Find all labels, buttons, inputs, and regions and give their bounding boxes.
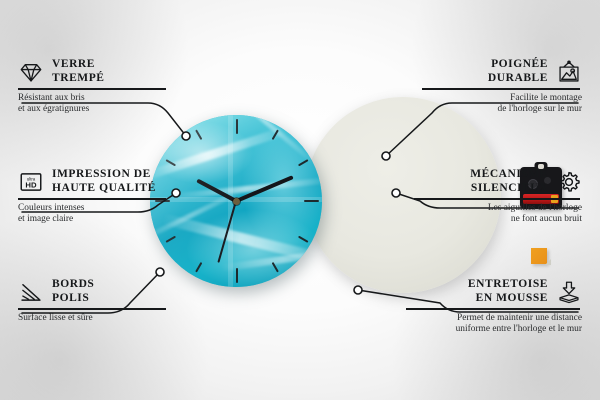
hanging-frame-icon [556,59,582,85]
callout-verre-trempe: VERRE TREMPÉ Résistant aux bris et aux é… [18,58,168,116]
callout-rule [18,198,166,200]
callout-title: IMPRESSION DE HAUTE QUALITÉ [52,168,156,195]
product-infographic: VERRE TREMPÉ Résistant aux bris et aux é… [0,0,600,400]
callout-title: MÉCANISME SILENCIEUX [470,168,548,195]
ultra-hd-icon: ultra HD [18,169,44,195]
callout-title: BORDS POLIS [52,278,94,305]
callout-subtitle: Résistant aux bris et aux égratignures [18,93,168,116]
callout-header: POIGNÉE DURABLE [422,58,582,85]
callout-title: ENTRETOISE EN MOUSSE [468,278,548,305]
callout-title: VERRE TREMPÉ [52,58,105,85]
callout-header: BORDS POLIS [18,278,168,305]
callout-header: VERRE TREMPÉ [18,58,168,85]
callout-bords-polis: BORDS POLIS Surface lisse et sûre [18,278,168,324]
callout-subtitle: Facilite le montage de l'horloge sur le … [422,93,582,116]
diamond-icon [18,59,44,85]
svg-text:HD: HD [25,180,37,189]
callout-entretoise-en-mousse: ENTRETOISE EN MOUSSE Permet de maintenir… [406,278,582,336]
callout-subtitle: Permet de maintenir une distance uniform… [406,313,582,336]
callout-rule [414,198,580,200]
glass-gloss-overlay [150,115,322,287]
callout-title: POIGNÉE DURABLE [488,58,548,85]
gear-icon [556,169,582,195]
callout-mecanisme-silencieux: MÉCANISME SILENCIEUX Les aiguilles de l'… [414,168,582,226]
callout-subtitle: Surface lisse et sûre [18,313,168,325]
callout-header: ultra HD IMPRESSION DE HAUTE QUALITÉ [18,168,168,195]
callout-rule [18,308,166,310]
callout-rule [406,308,580,310]
callout-subtitle: Les aiguilles de l'horloge ne font aucun… [414,203,582,226]
callout-rule [18,88,166,90]
callout-poignee-durable: POIGNÉE DURABLE Facilite le montage de l… [422,58,582,116]
foam-spacer [531,248,547,264]
callout-impression-haute-qualite: ultra HD IMPRESSION DE HAUTE QUALITÉ Cou… [18,168,168,226]
callout-header: MÉCANISME SILENCIEUX [414,168,582,195]
clock-front-face [150,115,322,287]
callout-subtitle: Couleurs intenses et image claire [18,203,168,226]
callout-header: ENTRETOISE EN MOUSSE [406,278,582,305]
foam-spacer-icon [556,279,582,305]
product-photo-group [150,95,450,305]
foam-spacer-corner [545,259,551,265]
polished-edges-icon [18,279,44,305]
callout-rule [422,88,580,90]
